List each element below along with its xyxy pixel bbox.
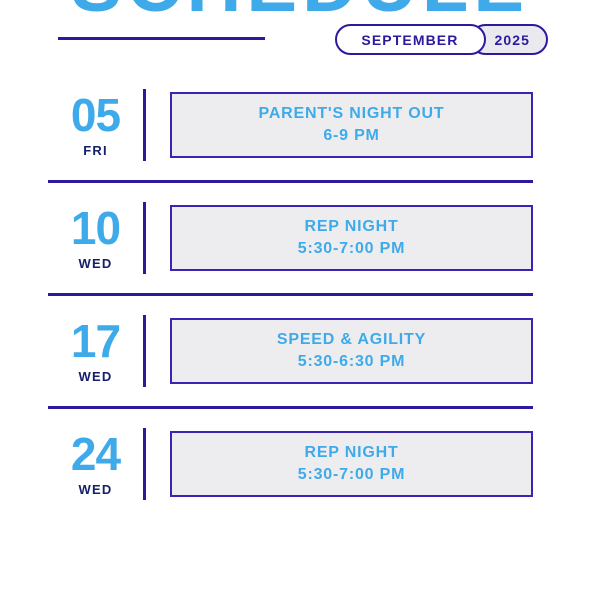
schedule-row: 24 WED REP NIGHT 5:30-7:00 PM [0,409,600,519]
schedule-row: 05 FRI PARENT'S NIGHT OUT 6-9 PM [0,70,600,180]
event-time: 5:30-6:30 PM [298,351,405,373]
event-title: PARENT'S NIGHT OUT [259,103,445,125]
date-column: 17 WED [48,318,143,384]
event-title: SPEED & AGILITY [277,329,426,351]
date-number: 17 [48,318,143,364]
event-card: REP NIGHT 5:30-7:00 PM [170,431,533,497]
date-weekday: FRI [48,143,143,158]
title-rule-divider [58,37,265,40]
poster-title-container: SCHEDULE [0,0,600,18]
date-column: 24 WED [48,431,143,497]
date-number: 24 [48,431,143,477]
event-time: 5:30-7:00 PM [298,464,405,486]
schedule-poster: SCHEDULE SEPTEMBER 2025 05 FRI PARENT'S … [0,0,600,600]
schedule-list: 05 FRI PARENT'S NIGHT OUT 6-9 PM 10 WED … [0,70,600,519]
event-card: SPEED & AGILITY 5:30-6:30 PM [170,318,533,384]
schedule-row: 10 WED REP NIGHT 5:30-7:00 PM [0,183,600,293]
date-weekday: WED [48,256,143,271]
event-title: REP NIGHT [304,216,398,238]
date-number: 10 [48,205,143,251]
month-year-badge: SEPTEMBER 2025 [335,24,548,55]
date-weekday: WED [48,482,143,497]
schedule-row: 17 WED SPEED & AGILITY 5:30-6:30 PM [0,296,600,406]
row-separator-bar [143,89,146,161]
event-card: REP NIGHT 5:30-7:00 PM [170,205,533,271]
event-time: 6-9 PM [323,125,379,147]
page-title: SCHEDULE [0,0,600,18]
date-column: 05 FRI [48,92,143,158]
month-label: SEPTEMBER [335,24,486,55]
row-separator-bar [143,202,146,274]
event-card: PARENT'S NIGHT OUT 6-9 PM [170,92,533,158]
event-title: REP NIGHT [304,442,398,464]
date-weekday: WED [48,369,143,384]
row-separator-bar [143,428,146,500]
date-number: 05 [48,92,143,138]
event-time: 5:30-7:00 PM [298,238,405,260]
header-bar: SEPTEMBER 2025 [0,24,600,58]
row-separator-bar [143,315,146,387]
date-column: 10 WED [48,205,143,271]
